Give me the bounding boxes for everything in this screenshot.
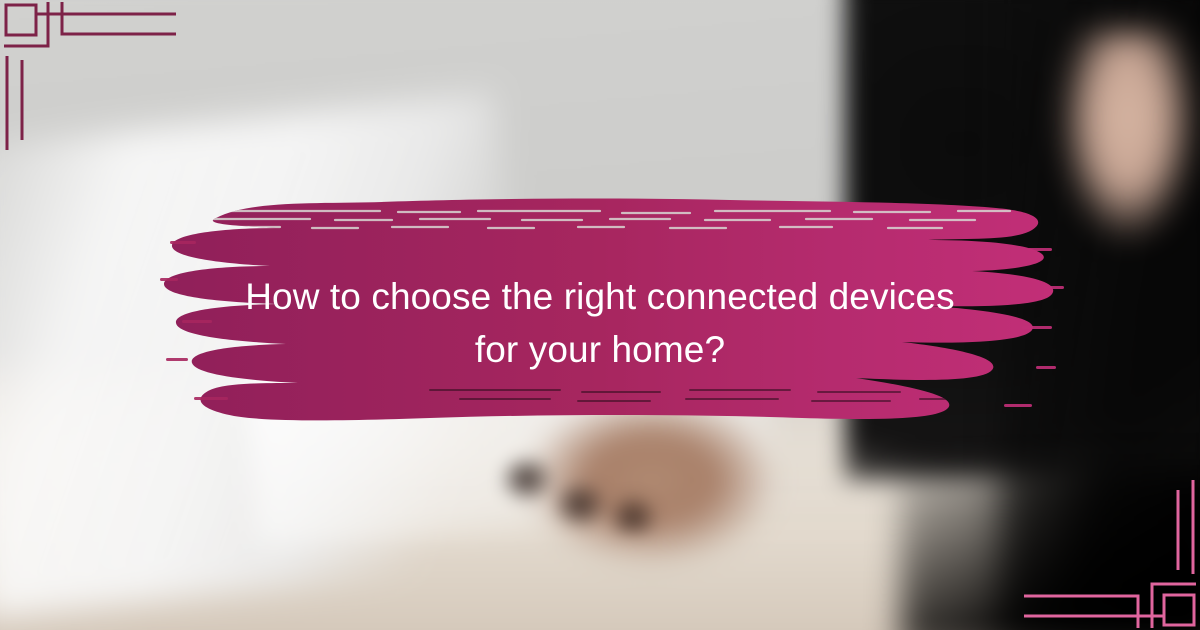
social-card: How to choose the right connected device… (0, 0, 1200, 630)
page-title: How to choose the right connected device… (150, 270, 1050, 376)
